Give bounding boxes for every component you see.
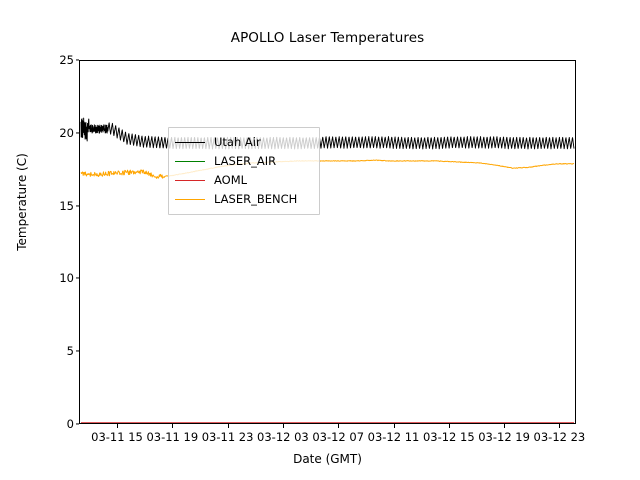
x-tick-mark xyxy=(338,424,339,428)
plot-area: Utah Air LASER_AIR AOML LASER_BENCH xyxy=(79,60,576,424)
x-tick-mark xyxy=(449,424,450,428)
x-tick-label: 03-11 19 xyxy=(146,430,198,444)
legend-item: AOML xyxy=(175,171,313,190)
chart-title: APOLLO Laser Temperatures xyxy=(79,30,576,46)
x-tick-label: 03-12 15 xyxy=(423,430,475,444)
y-tick-label: 15 xyxy=(14,199,74,213)
x-tick-label: 03-11 23 xyxy=(202,430,254,444)
legend-swatch-utah-air xyxy=(175,142,205,143)
x-tick-mark xyxy=(283,424,284,428)
legend-item: LASER_BENCH xyxy=(175,190,313,209)
x-tick-mark xyxy=(394,424,395,428)
x-tick-mark xyxy=(559,424,560,428)
legend-label-laser-bench: LASER_BENCH xyxy=(214,193,297,206)
legend-swatch-laser-bench xyxy=(175,199,205,200)
legend-label-utah-air: Utah Air xyxy=(214,136,261,149)
plot-lines xyxy=(80,61,575,423)
x-tick-mark xyxy=(117,424,118,428)
x-tick-label: 03-12 11 xyxy=(368,430,420,444)
legend-swatch-laser-air xyxy=(175,161,205,162)
y-tick-label: 5 xyxy=(14,344,74,358)
legend-label-aoml: AOML xyxy=(214,174,247,187)
x-tick-label: 03-12 19 xyxy=(478,430,530,444)
y-tick-label: 20 xyxy=(14,126,74,140)
x-axis-tick-labels: 03-11 1503-11 1903-11 2303-12 0303-12 07… xyxy=(79,430,576,450)
figure-canvas: APOLLO Laser Temperatures Temperature (C… xyxy=(0,0,640,480)
legend-swatch-aoml xyxy=(175,180,205,181)
legend-label-laser-air: LASER_AIR xyxy=(214,155,276,168)
chart-legend: Utah Air LASER_AIR AOML LASER_BENCH xyxy=(168,127,320,215)
x-tick-mark xyxy=(504,424,505,428)
legend-item: Utah Air xyxy=(175,133,313,152)
x-tick-label: 03-12 23 xyxy=(534,430,586,444)
y-tick-label: 0 xyxy=(14,417,74,431)
y-tick-label: 10 xyxy=(14,271,74,285)
x-axis-label: Date (GMT) xyxy=(79,452,576,466)
x-tick-label: 03-12 03 xyxy=(257,430,309,444)
x-tick-label: 03-11 15 xyxy=(91,430,143,444)
x-tick-mark xyxy=(172,424,173,428)
y-tick-label: 25 xyxy=(14,53,74,67)
y-axis-tick-labels: 0510152025 xyxy=(8,60,74,424)
x-tick-label: 03-12 07 xyxy=(312,430,364,444)
legend-item: LASER_AIR xyxy=(175,152,313,171)
x-tick-mark xyxy=(228,424,229,428)
